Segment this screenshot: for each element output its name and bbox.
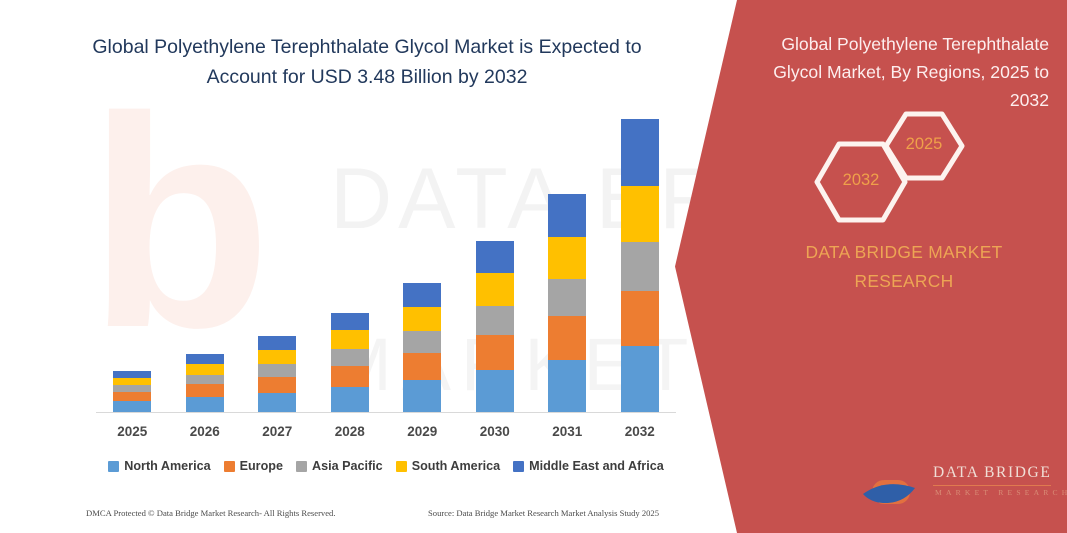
bar-segment-2027-north-america — [258, 393, 296, 412]
hexagon-label-2032: 2032 — [813, 171, 909, 190]
legend-label: North America — [124, 459, 210, 473]
logo-tagline: MARKET RESEARCH — [935, 488, 1067, 497]
bar-segment-2025-south-america — [113, 378, 151, 386]
bar-segment-2028-south-america — [331, 330, 369, 349]
bar-segment-2026-north-america — [186, 397, 224, 412]
legend-item-north-america[interactable]: North America — [108, 459, 210, 473]
bar-segment-2032-asia-pacific — [621, 242, 659, 291]
panel-title: Global Polyethylene Terephthalate Glycol… — [759, 30, 1049, 114]
data-bridge-logo-icon — [857, 458, 929, 508]
bar-segment-2031-europe — [548, 316, 586, 360]
bar-segment-2031-asia-pacific — [548, 279, 586, 316]
legend-item-asia-pacific[interactable]: Asia Pacific — [296, 459, 383, 473]
infographic-canvas: b DATA BRIDGE MARKET RESEARCH Global Pol… — [0, 0, 1067, 533]
chart-plot-area — [96, 110, 676, 413]
bar-segment-2031-north-america — [548, 360, 586, 412]
bar-segment-2026-europe — [186, 384, 224, 397]
x-axis-label-2031: 2031 — [537, 424, 597, 439]
bar-segment-2028-middle-east-and-africa — [331, 313, 369, 331]
bar-segment-2026-south-america — [186, 364, 224, 375]
bar-segment-2026-middle-east-and-africa — [186, 354, 224, 364]
bar-segment-2028-europe — [331, 366, 369, 387]
legend-label: Middle East and Africa — [529, 459, 664, 473]
bar-segment-2032-north-america — [621, 346, 659, 412]
bar-segment-2028-asia-pacific — [331, 349, 369, 366]
x-axis-label-2026: 2026 — [175, 424, 235, 439]
legend-swatch-icon — [108, 461, 119, 472]
legend-swatch-icon — [513, 461, 524, 472]
legend-label: Europe — [240, 459, 283, 473]
bar-segment-2029-middle-east-and-africa — [403, 283, 441, 307]
chart-legend: North AmericaEuropeAsia PacificSouth Ame… — [96, 455, 676, 477]
legend-swatch-icon — [396, 461, 407, 472]
x-axis-label-2030: 2030 — [465, 424, 525, 439]
bar-segment-2031-south-america — [548, 237, 586, 279]
company-logo: DATA BRIDGE MARKET RESEARCH — [857, 458, 1057, 510]
right-red-panel: Global Polyethylene Terephthalate Glycol… — [667, 0, 1067, 533]
bar-2025 — [113, 371, 151, 412]
x-axis-label-2025: 2025 — [102, 424, 162, 439]
bar-segment-2025-middle-east-and-africa — [113, 371, 151, 378]
legend-label: Asia Pacific — [312, 459, 383, 473]
bar-2030 — [476, 241, 514, 412]
bar-segment-2027-asia-pacific — [258, 364, 296, 377]
bar-segment-2029-europe — [403, 353, 441, 380]
x-axis-label-2027: 2027 — [247, 424, 307, 439]
footer-source: Source: Data Bridge Market Research Mark… — [428, 508, 659, 518]
legend-swatch-icon — [224, 461, 235, 472]
bar-segment-2030-europe — [476, 335, 514, 370]
x-axis-labels: 20252026202720282029203020312032 — [96, 424, 676, 446]
bar-segment-2029-south-america — [403, 307, 441, 331]
chart-title: Global Polyethylene Terephthalate Glycol… — [62, 32, 672, 92]
bar-segment-2029-asia-pacific — [403, 331, 441, 353]
legend-item-europe[interactable]: Europe — [224, 459, 283, 473]
bar-segment-2032-middle-east-and-africa — [621, 119, 659, 186]
x-axis-label-2028: 2028 — [320, 424, 380, 439]
legend-item-south-america[interactable]: South America — [396, 459, 500, 473]
logo-divider — [933, 485, 1051, 486]
bar-2026 — [186, 354, 224, 412]
footer: DMCA Protected © Data Bridge Market Rese… — [0, 508, 700, 526]
hexagon-badge-2025: 2025 — [882, 110, 966, 182]
bar-segment-2029-north-america — [403, 380, 441, 412]
hexagon-badge-2032: 2032 — [813, 140, 909, 224]
bar-segment-2028-north-america — [331, 387, 369, 412]
panel-brand-name: DATA BRIDGE MARKET RESEARCH — [759, 238, 1049, 296]
bar-2032 — [621, 119, 659, 412]
bar-segment-2026-asia-pacific — [186, 375, 224, 384]
bar-segment-2032-south-america — [621, 186, 659, 242]
bar-segment-2030-south-america — [476, 273, 514, 306]
bar-2031 — [548, 194, 586, 412]
bar-segment-2025-asia-pacific — [113, 385, 151, 392]
bar-2029 — [403, 283, 441, 412]
bar-2028 — [331, 313, 369, 412]
bar-segment-2025-europe — [113, 392, 151, 401]
bar-segment-2031-middle-east-and-africa — [548, 194, 586, 237]
x-axis-line — [96, 412, 676, 413]
x-axis-label-2029: 2029 — [392, 424, 452, 439]
hexagon-outline-icon — [882, 110, 966, 182]
logo-name: DATA BRIDGE — [933, 464, 1051, 482]
bar-segment-2030-middle-east-and-africa — [476, 241, 514, 273]
footer-copyright: DMCA Protected © Data Bridge Market Rese… — [86, 508, 336, 518]
bar-segment-2030-asia-pacific — [476, 306, 514, 335]
legend-label: South America — [412, 459, 500, 473]
hexagon-label-2025: 2025 — [882, 135, 966, 154]
hexagon-outline-icon — [813, 140, 909, 224]
bar-2027 — [258, 336, 296, 412]
legend-swatch-icon — [296, 461, 307, 472]
bar-segment-2032-europe — [621, 291, 659, 347]
bar-segment-2027-europe — [258, 377, 296, 393]
bar-segment-2027-south-america — [258, 350, 296, 364]
x-axis-label-2032: 2032 — [610, 424, 670, 439]
bar-segment-2025-north-america — [113, 401, 151, 412]
bar-segment-2030-north-america — [476, 370, 514, 412]
bar-segment-2027-middle-east-and-africa — [258, 336, 296, 349]
legend-item-middle-east-and-africa[interactable]: Middle East and Africa — [513, 459, 664, 473]
